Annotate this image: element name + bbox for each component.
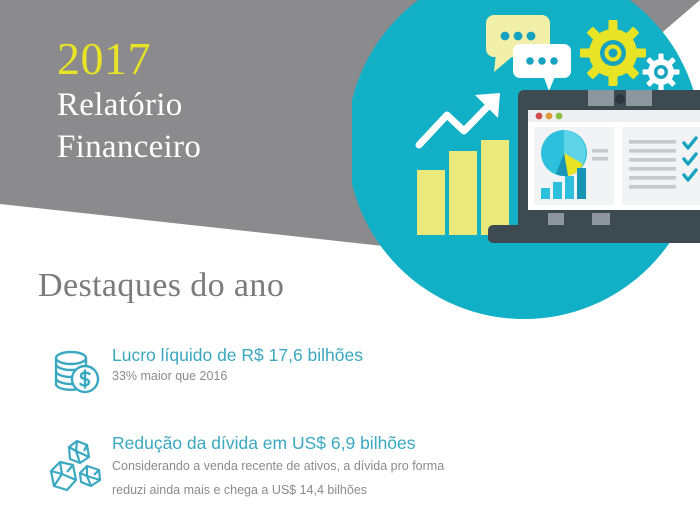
- hero-title-line-2: Financeiro: [57, 126, 201, 168]
- highlight-text-block: Redução da dívida em US$ 6,9 bilhões Con…: [112, 432, 444, 502]
- highlight-title: Redução da dívida em US$ 6,9 bilhões: [112, 432, 444, 454]
- gear-icon: [643, 54, 680, 91]
- laptop-icon: [488, 90, 700, 243]
- highlight-subtitle-line: Considerando a venda recente de ativos, …: [112, 454, 444, 478]
- checklist-icon: [622, 127, 700, 205]
- highlight-subtitle-line: 33% maior que 2016: [112, 366, 363, 386]
- gems-icon: [40, 432, 112, 498]
- coins-stack-icon: [40, 344, 112, 396]
- highlight-item-profit: Lucro líquido de R$ 17,6 bilhões 33% mai…: [40, 344, 363, 396]
- highlight-text-block: Lucro líquido de R$ 17,6 bilhões 33% mai…: [112, 344, 363, 386]
- hero-title-block: 2017 Relatório Financeiro: [57, 34, 201, 168]
- highlight-item-debt: Redução da dívida em US$ 6,9 bilhões Con…: [40, 432, 444, 502]
- page-title: Destaques do ano: [38, 266, 284, 306]
- highlight-subtitle-line: reduzi ainda mais e chega a US$ 14,4 bil…: [112, 478, 444, 502]
- hero-title-line-1: Relatório: [57, 84, 201, 126]
- hero-year: 2017: [57, 34, 201, 84]
- highlight-title: Lucro líquido de R$ 17,6 bilhões: [112, 344, 363, 366]
- gear-icon: [580, 20, 646, 86]
- infographic-page: 2017 Relatório Financeiro Destaques do a…: [0, 0, 700, 523]
